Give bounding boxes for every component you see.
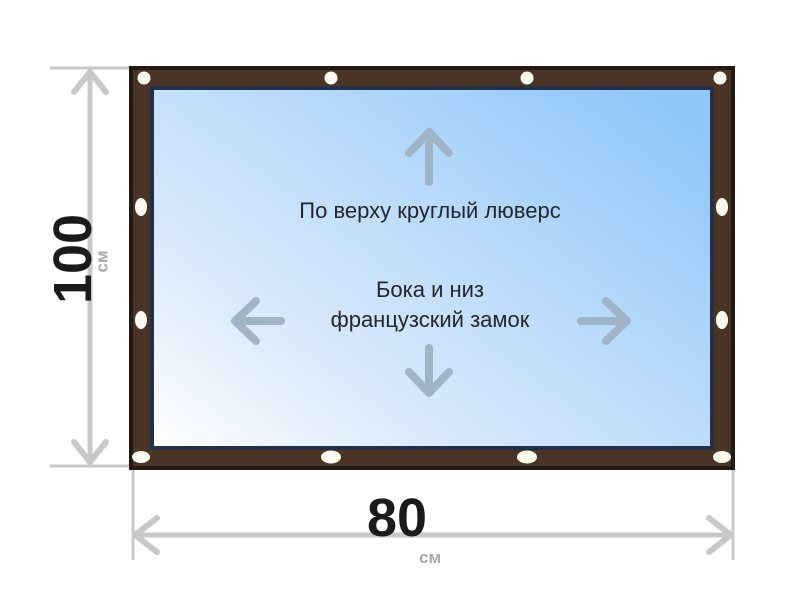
grommet-right-3: [713, 451, 731, 463]
width-dimension-unit: см: [419, 549, 441, 566]
grommet-right-2: [716, 311, 728, 329]
grommet-top-3: [521, 72, 534, 85]
grommet-bottom-1: [321, 451, 341, 464]
grommet-right-1: [716, 198, 728, 216]
width-dimension-value: 80: [367, 491, 427, 545]
tarp-dimension-diagram: По верху круглый люверс Бока и низ франц…: [0, 0, 800, 600]
grommet-left-1: [135, 198, 147, 216]
grommet-left-2: [135, 311, 147, 329]
fabric-label-bottom-line1: Бока и низ: [331, 275, 530, 305]
grommet-left-3: [132, 451, 150, 463]
height-dimension-unit: см: [94, 250, 111, 272]
tarp-frame: [131, 68, 733, 468]
grommet-bottom-2: [517, 451, 537, 464]
fabric-label-bottom: Бока и низ французский замок: [331, 275, 530, 335]
grommet-top-4: [714, 72, 727, 85]
grommet-top-1: [138, 72, 151, 85]
fabric-label-bottom-line2: французский замок: [331, 305, 530, 335]
grommet-top-2: [325, 72, 338, 85]
fabric-label-top: По верху круглый люверс: [299, 196, 560, 226]
